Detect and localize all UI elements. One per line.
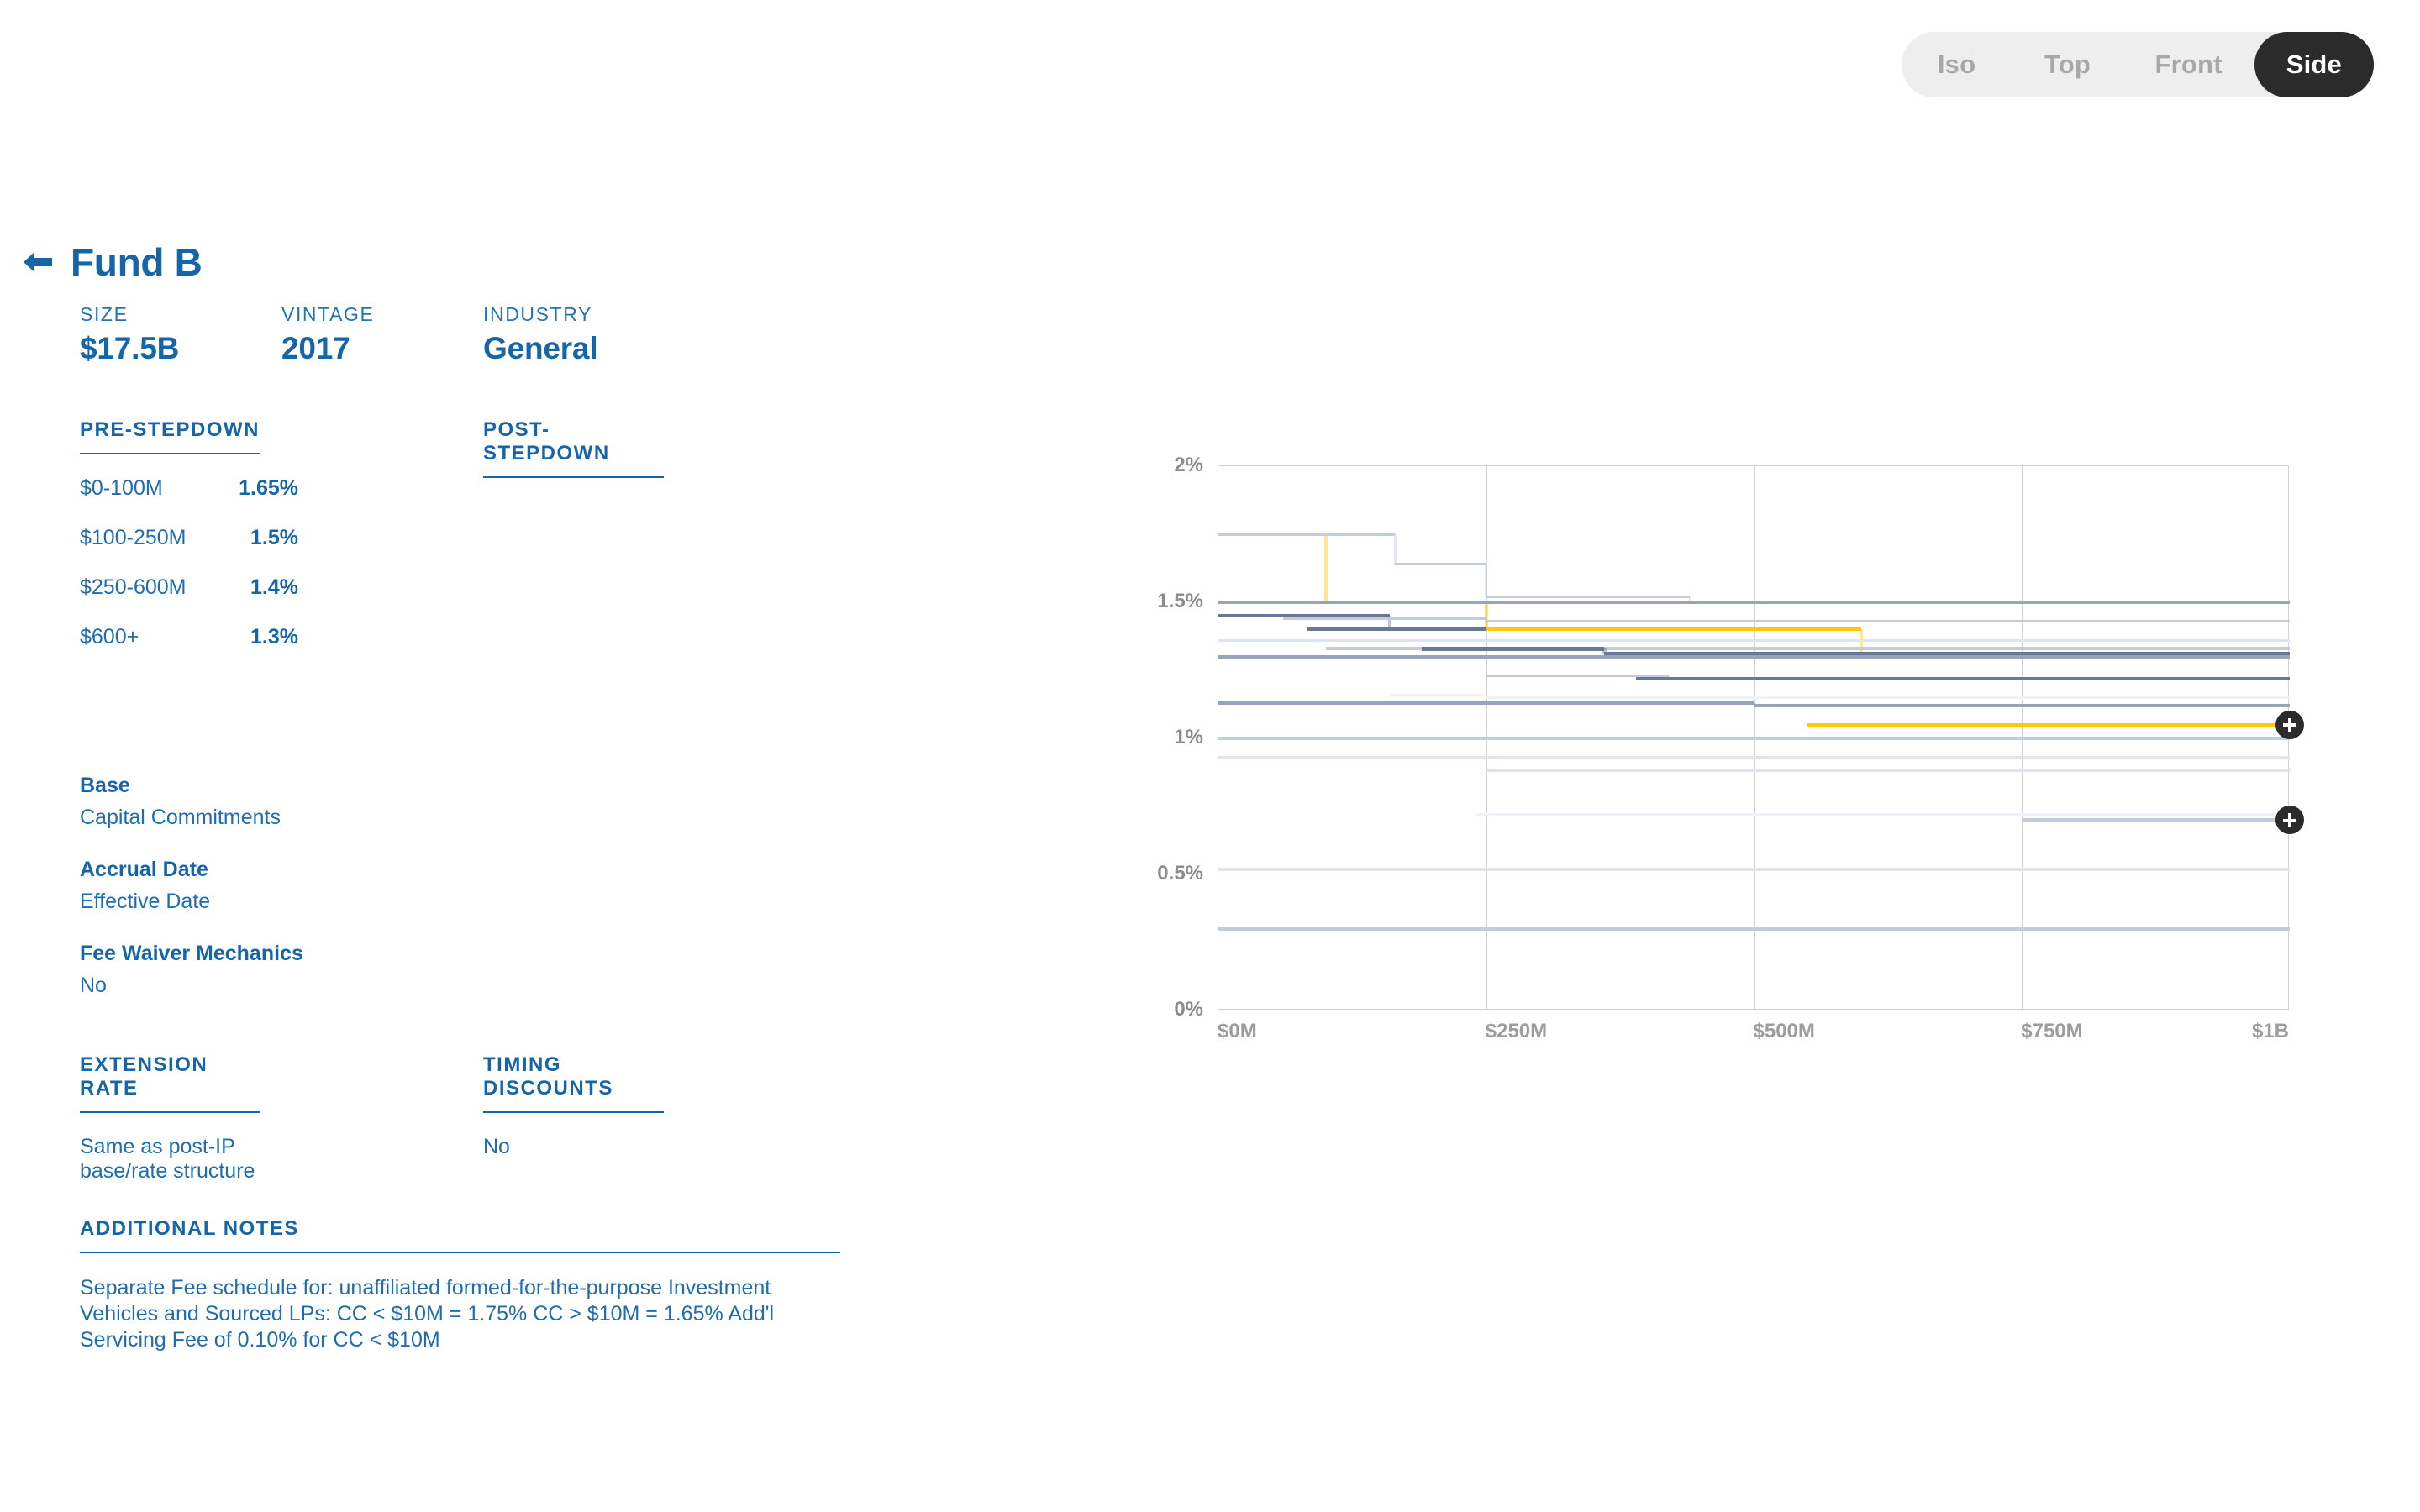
chart-step-segment (1807, 723, 2290, 727)
detail-key: Fee Waiver Mechanics (80, 942, 941, 966)
pre-stepdown-tier-row: $0-100M1.65% (80, 476, 298, 501)
chart-step-segment (1218, 639, 1486, 642)
pre-stepdown-tier-band: $0-100M (80, 476, 239, 501)
fund-info-panel: Fund B SIZE $17.5B VINTAGE 2017 INDUSTRY… (0, 239, 941, 1353)
chart-y-tick-label: 0.5% (1102, 862, 1203, 885)
pre-stepdown-tier-band: $600+ (80, 625, 250, 649)
stepdown-section: PRE-STEPDOWN $0-100M1.65%$100-250M1.5%$2… (0, 418, 941, 675)
meta-industry-value: General (483, 331, 597, 366)
chart-step-connector (1602, 648, 1607, 654)
chart-step-connector (1753, 703, 1756, 706)
chart-y-tick-label: 1% (1102, 726, 1203, 749)
pre-stepdown-tier-rate: 1.5% (250, 526, 298, 550)
chart-x-tick-label: $500M (1754, 1020, 1815, 1043)
view-btn-iso[interactable]: Iso (1902, 32, 2012, 97)
pre-stepdown-tier-rate: 1.3% (250, 625, 298, 649)
chart-step-connector (1324, 534, 1328, 602)
chart-x-tick-label: $0M (1218, 1020, 1257, 1043)
extension-timing-section: EXTENSION RATE Same as post-IP base/rate… (0, 1053, 941, 1184)
meta-industry: INDUSTRY General (483, 303, 597, 366)
chart-step-segment (1422, 647, 1604, 651)
chart-y-tick-label: 0% (1102, 998, 1203, 1021)
chart-step-segment (1486, 737, 2290, 740)
fund-meta-row: SIZE $17.5B VINTAGE 2017 INDUSTRY Genera… (0, 303, 941, 366)
timing-discounts-column: TIMING DISCOUNTS No (483, 1053, 702, 1184)
meta-size-value: $17.5B (80, 331, 281, 366)
fee-schedule-chart[interactable]: 2%1.5%1%0.5%0%$0M$250M$500M$750M$1B (1143, 437, 2361, 1042)
pre-stepdown-tier-list: $0-100M1.65%$100-250M1.5%$250-600M1.4%$6… (80, 476, 298, 649)
chart-step-segment (1218, 601, 1486, 604)
detail-key: Accrual Date (80, 858, 941, 882)
plus-icon[interactable] (2275, 806, 2304, 834)
chart-step-segment (1218, 737, 1486, 740)
chart-step-connector (1485, 618, 1487, 621)
additional-notes-section: ADDITIONAL NOTES Separate Fee schedule f… (0, 1217, 941, 1353)
view-btn-front[interactable]: Front (2123, 32, 2254, 97)
meta-industry-label: INDUSTRY (483, 303, 597, 326)
detail-value: Effective Date (80, 890, 941, 914)
chart-step-segment (1486, 769, 2290, 772)
chart-x-tick-label: $1B (2252, 1020, 2289, 1043)
chart-plot-area[interactable] (1218, 465, 2289, 1010)
chart-step-segment (1390, 694, 1486, 696)
page-title: Fund B (71, 239, 203, 285)
additional-notes-text: Separate Fee schedule for: unaffiliated … (80, 1275, 853, 1353)
chart-step-segment (1754, 704, 2291, 707)
chart-step-segment (1486, 647, 2290, 650)
chart-step-segment (1476, 813, 2290, 816)
chart-step-segment (1636, 677, 1754, 680)
chart-step-segment (1218, 655, 1486, 659)
chart-step-segment (1218, 701, 1754, 705)
meta-size-label: SIZE (80, 303, 281, 326)
chart-step-segment (1486, 596, 1690, 598)
fund-title-row: Fund B (0, 239, 941, 285)
chart-step-segment (1438, 627, 1486, 631)
back-arrow-icon[interactable] (24, 249, 52, 275)
meta-vintage: VINTAGE 2017 (281, 303, 483, 366)
chart-x-tick-label: $250M (1486, 1020, 1547, 1043)
chart-step-connector (1485, 564, 1487, 597)
fund-details-list: BaseCapital CommitmentsAccrual DateEffec… (0, 774, 941, 998)
timing-discounts-heading: TIMING DISCOUNTS (483, 1053, 664, 1113)
extension-rate-value: Same as post-IP base/rate structure (80, 1135, 298, 1184)
chart-step-segment (1283, 617, 1486, 620)
chart-step-segment (1218, 927, 2022, 931)
plus-icon[interactable] (2275, 711, 2304, 739)
pre-stepdown-tier-row: $250-600M1.4% (80, 575, 298, 600)
chart-step-segment (1754, 655, 2291, 659)
chart-y-tick-label: 1.5% (1102, 590, 1203, 613)
chart-step-segment (1486, 627, 1861, 631)
chart-step-segment (1218, 868, 2290, 871)
chart-step-segment (1307, 627, 1439, 631)
post-stepdown-column: POST-STEPDOWN (483, 418, 702, 675)
chart-x-tick-label: $750M (2021, 1020, 2082, 1043)
pre-stepdown-tier-rate: 1.65% (239, 476, 298, 501)
detail-value: Capital Commitments (80, 806, 941, 830)
additional-notes-heading: ADDITIONAL NOTES (80, 1217, 840, 1253)
chart-step-segment (1486, 696, 2290, 699)
chart-step-segment (1218, 756, 2290, 759)
pre-stepdown-tier-row: $600+1.3% (80, 625, 298, 649)
pre-stepdown-tier-band: $250-600M (80, 575, 250, 600)
post-stepdown-heading: POST-STEPDOWN (483, 418, 664, 478)
meta-size: SIZE $17.5B (80, 303, 281, 366)
detail-value: No (80, 974, 941, 998)
view-btn-top[interactable]: Top (2012, 32, 2123, 97)
chart-step-connector (1485, 602, 1488, 629)
chart-step-connector (1394, 534, 1397, 564)
chart-y-tick-label: 2% (1102, 454, 1203, 477)
chart-step-segment (2022, 818, 2290, 822)
view-toggle-group[interactable]: IsoTopFrontSide (1902, 32, 2374, 97)
chart-step-segment (1690, 601, 2290, 604)
timing-discounts-value: No (483, 1135, 702, 1159)
view-btn-side[interactable]: Side (2254, 32, 2374, 97)
chart-step-segment (2022, 927, 2290, 931)
chart-step-connector (1485, 695, 1487, 697)
pre-stepdown-tier-row: $100-250M1.5% (80, 526, 298, 550)
chart-step-segment (1486, 655, 1754, 659)
extension-rate-column: EXTENSION RATE Same as post-IP base/rate… (80, 1053, 298, 1184)
chart-step-segment (1754, 677, 2291, 680)
chart-step-segment (1486, 601, 1690, 604)
pre-stepdown-column: PRE-STEPDOWN $0-100M1.65%$100-250M1.5%$2… (80, 418, 298, 675)
meta-vintage-label: VINTAGE (281, 303, 483, 326)
chart-step-segment (1395, 563, 1486, 565)
detail-key: Base (80, 774, 941, 798)
chart-step-segment (1218, 533, 1395, 536)
pre-stepdown-heading: PRE-STEPDOWN (80, 418, 260, 454)
extension-rate-heading: EXTENSION RATE (80, 1053, 260, 1113)
chart-step-segment (1486, 620, 2290, 622)
chart-step-segment (1486, 639, 2290, 642)
meta-vintage-value: 2017 (281, 331, 483, 366)
pre-stepdown-tier-rate: 1.4% (250, 575, 298, 600)
pre-stepdown-tier-band: $100-250M (80, 526, 250, 550)
